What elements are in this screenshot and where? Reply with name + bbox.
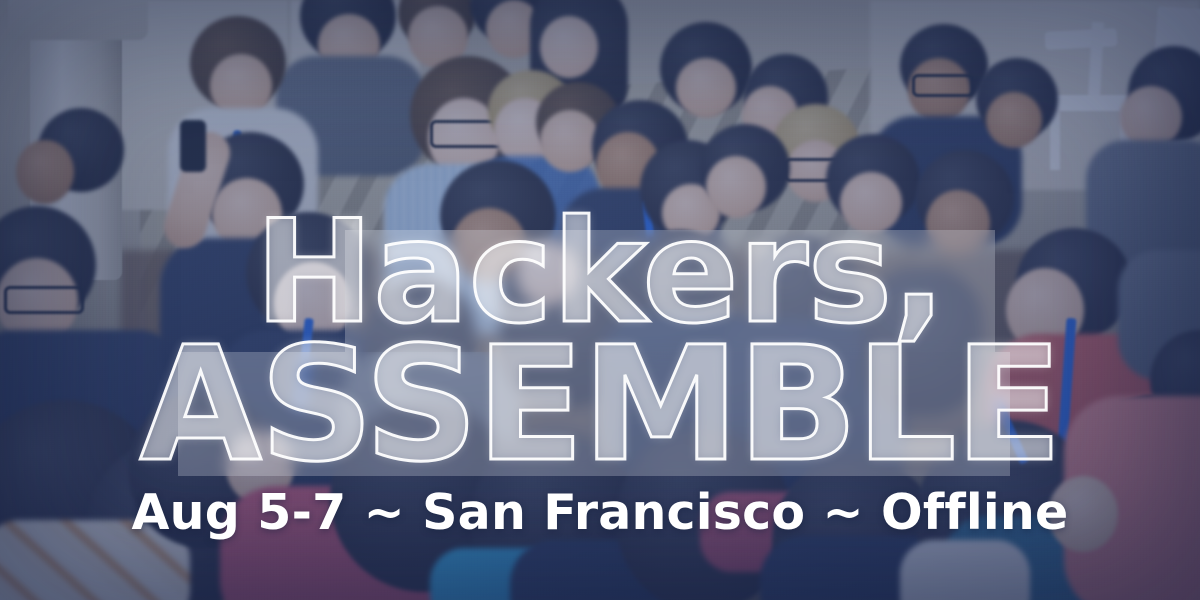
headline-line-2: ASSEMBLE <box>0 330 1200 482</box>
event-details-subtitle: Aug 5-7 ~ San Francisco ~ Offline <box>0 484 1200 541</box>
text-overlay: Hackers, ASSEMBLE Aug 5-7 ~ San Francisc… <box>0 0 1200 600</box>
hero-banner: Hackers, ASSEMBLE Aug 5-7 ~ San Francisc… <box>0 0 1200 600</box>
